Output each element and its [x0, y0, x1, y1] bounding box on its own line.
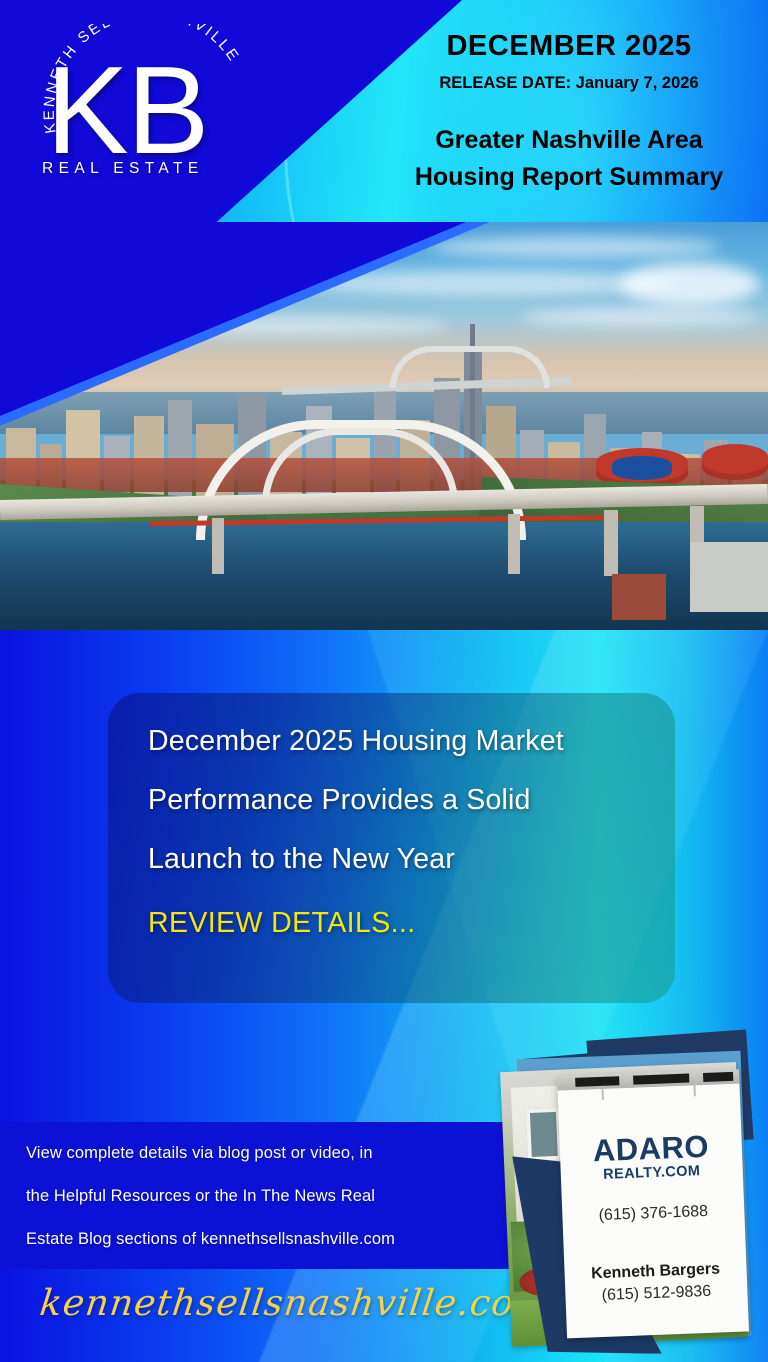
sign-bar-left — [575, 1076, 619, 1087]
report-title-line1: Greater Nashville Area — [378, 122, 760, 159]
footer-line-1: View complete details via blog post or v… — [26, 1144, 496, 1163]
message-panel[interactable]: December 2025 Housing Market Performance… — [108, 693, 675, 1003]
bridge-pier — [604, 510, 618, 576]
adaro-yard-sign[interactable]: ADARO REALTY.COM (615) 376-1688 Kenneth … — [557, 1070, 749, 1339]
release-date: RELEASE DATE: January 7, 2026 — [404, 74, 734, 93]
logo-monogram: KB — [46, 52, 207, 170]
stadium-field — [612, 456, 672, 480]
message-line-1: December 2025 Housing Market — [148, 725, 648, 758]
cloud-shape — [520, 308, 760, 326]
report-title-line2: Housing Report Summary — [378, 159, 760, 196]
stadium-secondary — [702, 444, 768, 480]
office-phone[interactable]: (615) 376-1688 — [562, 1202, 745, 1227]
distant-bridge-arch — [390, 346, 550, 388]
industrial-building — [690, 542, 768, 612]
logo-subtitle: REAL ESTATE — [42, 160, 242, 178]
header-banner: KENNETH SELLS NASHVILLE KB REAL ESTATE D… — [0, 0, 768, 224]
message-line-3: Launch to the New Year — [148, 843, 648, 876]
flyer-page: KENNETH SELLS NASHVILLE KB REAL ESTATE D… — [0, 0, 768, 1362]
footer-band: View complete details via blog post or v… — [0, 1122, 519, 1269]
house-window — [526, 1108, 562, 1161]
footer-line-2: the Helpful Resources or the In The News… — [26, 1187, 496, 1206]
review-details-link[interactable]: REVIEW DETAILS... — [148, 907, 648, 940]
agent-phone[interactable]: (615) 512-9836 — [565, 1281, 748, 1306]
footer-line-3: Estate Blog sections of kennethsellsnash… — [26, 1230, 496, 1249]
agent-name: Kenneth Bargers — [564, 1259, 747, 1284]
brand-logo[interactable]: KENNETH SELLS NASHVILLE KB REAL ESTATE — [28, 24, 260, 210]
bridge-pier — [508, 514, 520, 574]
cloud-shape — [620, 262, 760, 306]
cloud-shape — [430, 236, 720, 258]
website-url-script[interactable]: kennethsellsnashville.com — [37, 1283, 552, 1324]
brick-building — [612, 574, 666, 620]
report-month: DECEMBER 2025 — [404, 30, 734, 63]
bridge-pier — [212, 518, 224, 574]
realty-sign-cluster: ADARO REALTY.COM (615) 376-1688 Kenneth … — [500, 1025, 768, 1362]
message-line-2: Performance Provides a Solid — [148, 784, 648, 817]
sign-bar-right — [703, 1072, 733, 1082]
nashville-skyline-photo — [0, 222, 768, 630]
report-title: Greater Nashville Area Housing Report Su… — [378, 122, 760, 196]
